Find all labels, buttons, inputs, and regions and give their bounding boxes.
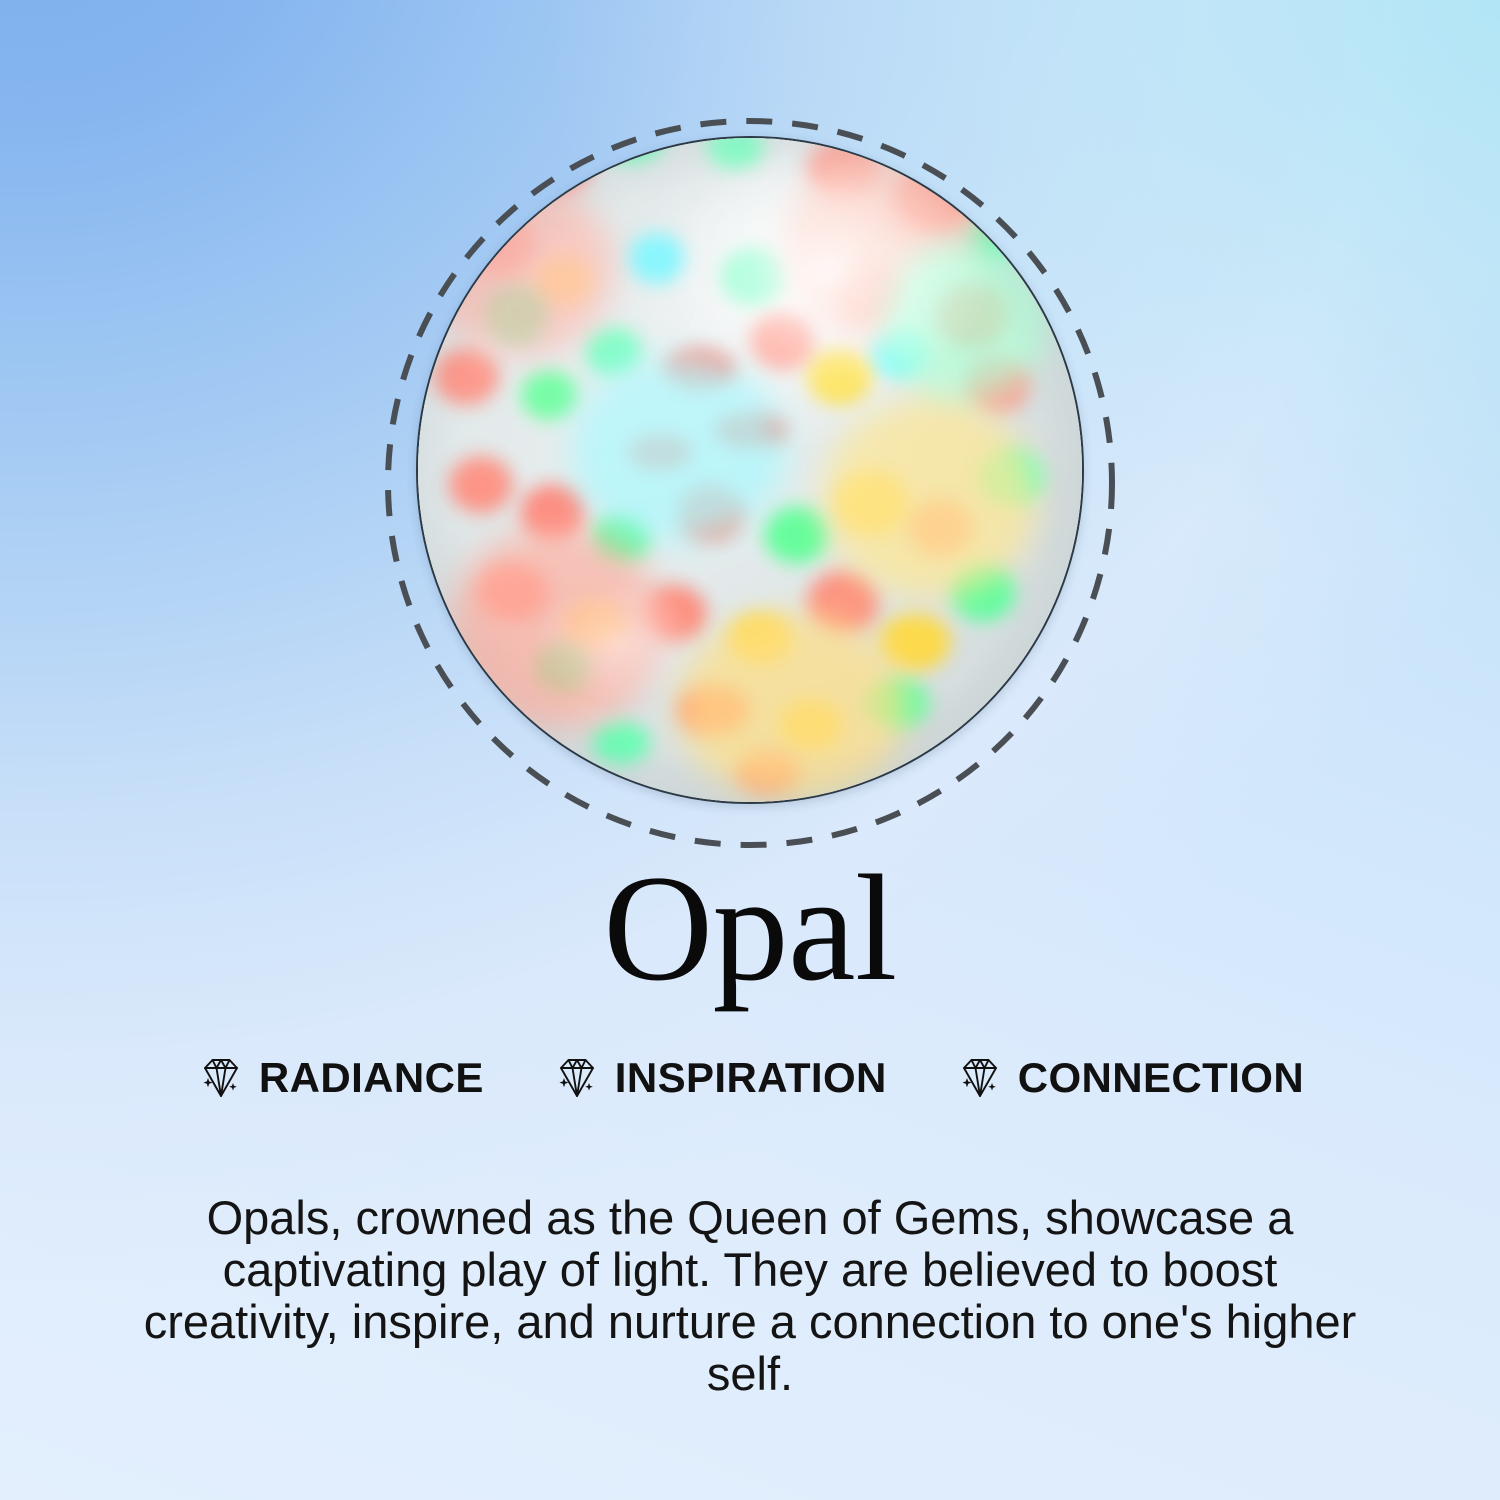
diamond-icon (552, 1053, 602, 1103)
opal-vignette (418, 138, 1082, 802)
feature-item-connection: CONNECTION (955, 1053, 1304, 1103)
gemstone-info-card: Opal (0, 0, 1500, 1500)
description-text: Opals, crowned as the Queen of Gems, sho… (135, 1192, 1365, 1400)
diamond-icon (955, 1053, 1005, 1103)
gem-illustration (385, 118, 1115, 848)
page-title: Opal (0, 852, 1500, 1004)
diamond-icon (196, 1053, 246, 1103)
feature-list: RADIANCE (0, 1053, 1500, 1103)
feature-item-radiance: RADIANCE (196, 1053, 484, 1103)
feature-label: RADIANCE (259, 1054, 484, 1102)
opal-stone (416, 136, 1084, 804)
feature-label: INSPIRATION (615, 1054, 887, 1102)
feature-label: CONNECTION (1018, 1054, 1304, 1102)
feature-item-inspiration: INSPIRATION (552, 1053, 887, 1103)
